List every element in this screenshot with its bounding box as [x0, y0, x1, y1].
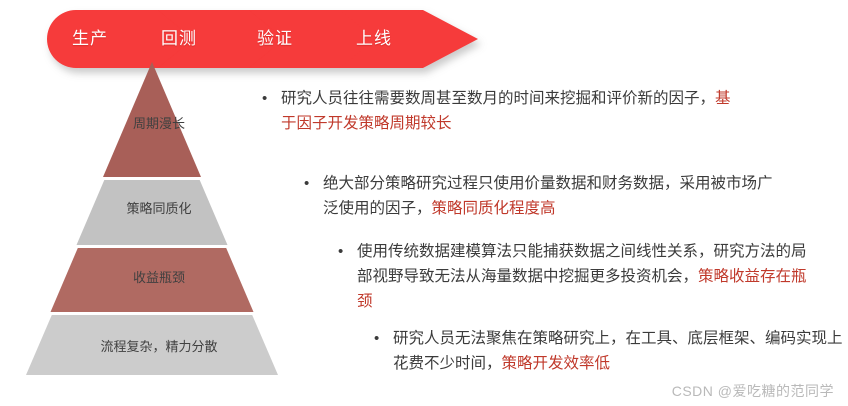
bullet-highlight-text: 策略同质化程度高 — [432, 200, 556, 217]
bullet-text: 使用传统数据建模算法只能捕获数据之间线性关系，研究方法的局部视野导致无法从海量数… — [357, 239, 814, 314]
problem-pyramid: 周期漫长 策略同质化 收益瓶颈 流程复杂，精力分散 — [14, 58, 304, 380]
bullet-plain-text: 研究人员无法聚焦在策略研究上，在工具、底层框架、编码实现上花费不少时间， — [393, 330, 843, 372]
slide-canvas: 生产 回测 验证 上线 周期漫长 策略同质化 收益瓶颈 流程复杂，精力分散 • … — [0, 0, 848, 406]
pyramid-tier-3-shape — [26, 315, 278, 375]
bullet-item-4: • 研究人员无法聚焦在策略研究上，在工具、底层框架、编码实现上花费不少时间，策略… — [374, 326, 844, 376]
bullet-item-1: • 研究人员往往需要数周甚至数月的时间来挖掘和评价新的因子，基于因子开发策略周期… — [262, 86, 732, 136]
bullet-text: 研究人员无法聚焦在策略研究上，在工具、底层框架、编码实现上花费不少时间，策略开发… — [393, 326, 844, 376]
bullet-item-2: • 绝大部分策略研究过程只使用价量数据和财务数据，采用被市场广泛使用的因子，策略… — [304, 171, 774, 221]
bullet-marker: • — [262, 86, 267, 111]
bullet-marker: • — [338, 239, 343, 264]
pyramid-tier-0-shape — [103, 62, 201, 177]
bullet-text: 研究人员往往需要数周甚至数月的时间来挖掘和评价新的因子，基于因子开发策略周期较长 — [281, 86, 732, 136]
bullet-marker: • — [374, 326, 379, 351]
pyramid-graphic — [14, 58, 304, 380]
bullet-item-3: • 使用传统数据建模算法只能捕获数据之间线性关系，研究方法的局部视野导致无法从海… — [338, 239, 814, 314]
pyramid-tier-1-shape — [77, 180, 228, 245]
bullet-plain-text: 研究人员往往需要数周甚至数月的时间来挖掘和评价新的因子， — [281, 90, 715, 107]
bullet-marker: • — [304, 171, 309, 196]
bullet-text: 绝大部分策略研究过程只使用价量数据和财务数据，采用被市场广泛使用的因子，策略同质… — [323, 171, 774, 221]
csdn-watermark: CSDN @爱吃糖的范同学 — [672, 381, 834, 401]
pyramid-tier-2-shape — [51, 248, 254, 312]
bullet-highlight-text: 策略开发效率低 — [502, 355, 611, 372]
